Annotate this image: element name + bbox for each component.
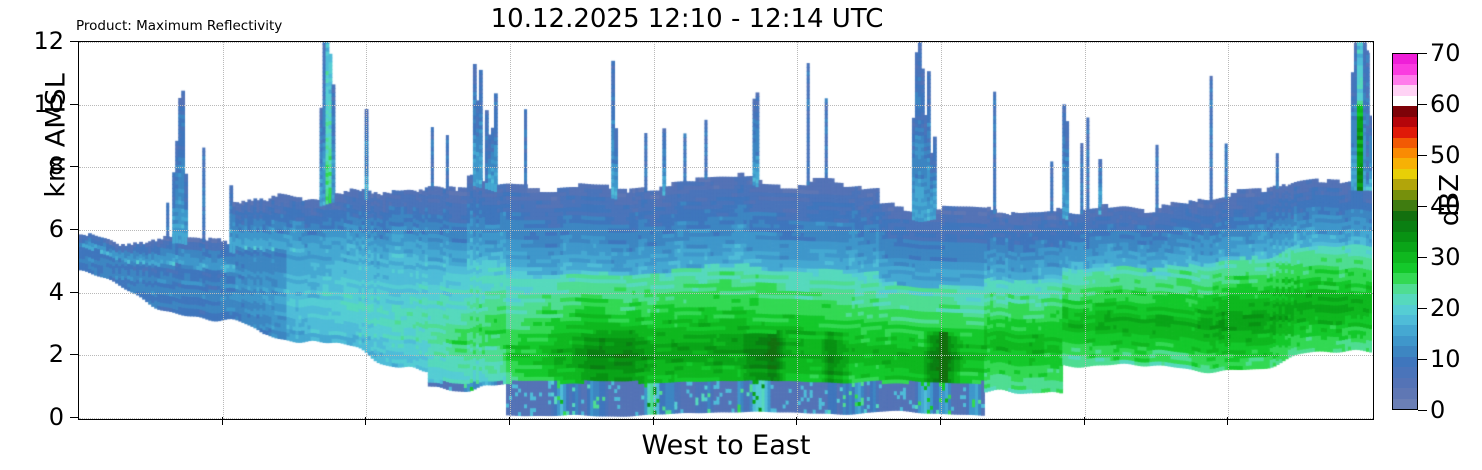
y-tick-mark — [70, 417, 78, 418]
colorbar-segment — [1393, 116, 1417, 127]
y-tick-mark — [70, 166, 78, 167]
colorbar-segment — [1393, 335, 1417, 346]
y-tick-mark — [70, 229, 78, 230]
colorbar-segment — [1393, 64, 1417, 75]
colorbar-tick-mark — [1418, 257, 1427, 258]
radar-cross-section-plot — [78, 41, 1374, 420]
y-tick-label: 6 — [49, 215, 64, 243]
colorbar-segment — [1393, 210, 1417, 221]
colorbar-segment — [1393, 346, 1417, 357]
colorbar-tick-mark — [1418, 410, 1427, 411]
x-tick-mark — [1084, 417, 1085, 425]
colorbar-segment — [1393, 262, 1417, 273]
colorbar-segment — [1393, 95, 1417, 106]
y-tick-label: 10 — [33, 90, 64, 118]
colorbar-segment — [1393, 325, 1417, 336]
colorbar — [1392, 53, 1418, 410]
colorbar-segment — [1393, 74, 1417, 85]
y-tick-label: 12 — [33, 27, 64, 55]
colorbar-tick-label: 70 — [1430, 39, 1461, 67]
colorbar-tick-label: 20 — [1430, 294, 1461, 322]
colorbar-segment — [1393, 200, 1417, 211]
colorbar-segment — [1393, 388, 1417, 399]
x-tick-mark — [653, 417, 654, 425]
colorbar-segment — [1393, 179, 1417, 190]
colorbar-segment — [1393, 252, 1417, 263]
colorbar-segment — [1393, 398, 1417, 409]
colorbar-segment — [1393, 294, 1417, 305]
x-tick-mark — [796, 417, 797, 425]
reflectivity-heatmap — [79, 42, 1372, 418]
y-tick-mark — [70, 104, 78, 105]
colorbar-segment — [1393, 106, 1417, 117]
colorbar-segment — [1393, 158, 1417, 169]
colorbar-segment — [1393, 53, 1417, 64]
colorbar-tick-mark — [1418, 104, 1427, 105]
colorbar-tick-label: 10 — [1430, 345, 1461, 373]
colorbar-segment — [1393, 356, 1417, 367]
colorbar-segment — [1393, 367, 1417, 378]
colorbar-segment — [1393, 241, 1417, 252]
y-tick-mark — [70, 354, 78, 355]
x-tick-mark — [1227, 417, 1228, 425]
colorbar-segment — [1393, 231, 1417, 242]
x-tick-mark — [222, 417, 223, 425]
y-tick-label: 4 — [49, 278, 64, 306]
y-axis-ticks: 024681012 — [0, 0, 78, 470]
colorbar-segment — [1393, 85, 1417, 96]
colorbar-segment — [1393, 273, 1417, 284]
colorbar-tick-mark — [1418, 206, 1427, 207]
colorbar-segment — [1393, 314, 1417, 325]
colorbar-segment — [1393, 377, 1417, 388]
y-tick-label: 0 — [49, 403, 64, 431]
heatmap-canvas-wrapper — [79, 42, 1373, 419]
colorbar-tick-label: 60 — [1430, 90, 1461, 118]
y-tick-mark — [70, 41, 78, 42]
x-tick-mark — [365, 417, 366, 425]
colorbar-tick-label: 0 — [1430, 396, 1445, 424]
x-tick-mark — [509, 417, 510, 425]
y-tick-label: 8 — [49, 152, 64, 180]
x-axis-label: West to East — [78, 430, 1374, 461]
x-tick-mark — [940, 417, 941, 425]
colorbar-tick-label: 40 — [1430, 192, 1461, 220]
colorbar-segment — [1393, 189, 1417, 200]
colorbar-tick-mark — [1418, 308, 1427, 309]
colorbar-segment — [1393, 304, 1417, 315]
colorbar-tick-mark — [1418, 155, 1427, 156]
colorbar-tick-label: 50 — [1430, 141, 1461, 169]
colorbar-segment — [1393, 283, 1417, 294]
colorbar-tick-label: 30 — [1430, 243, 1461, 271]
colorbar-segment — [1393, 137, 1417, 148]
colorbar-segment — [1393, 168, 1417, 179]
y-tick-mark — [70, 292, 78, 293]
colorbar-segment — [1393, 220, 1417, 231]
product-label: Product: Maximum Reflectivity — [76, 18, 282, 34]
colorbar-tick-mark — [1418, 359, 1427, 360]
colorbar-segment — [1393, 147, 1417, 158]
y-tick-label: 2 — [49, 340, 64, 368]
colorbar-tick-mark — [1418, 53, 1427, 54]
colorbar-segment — [1393, 127, 1417, 138]
